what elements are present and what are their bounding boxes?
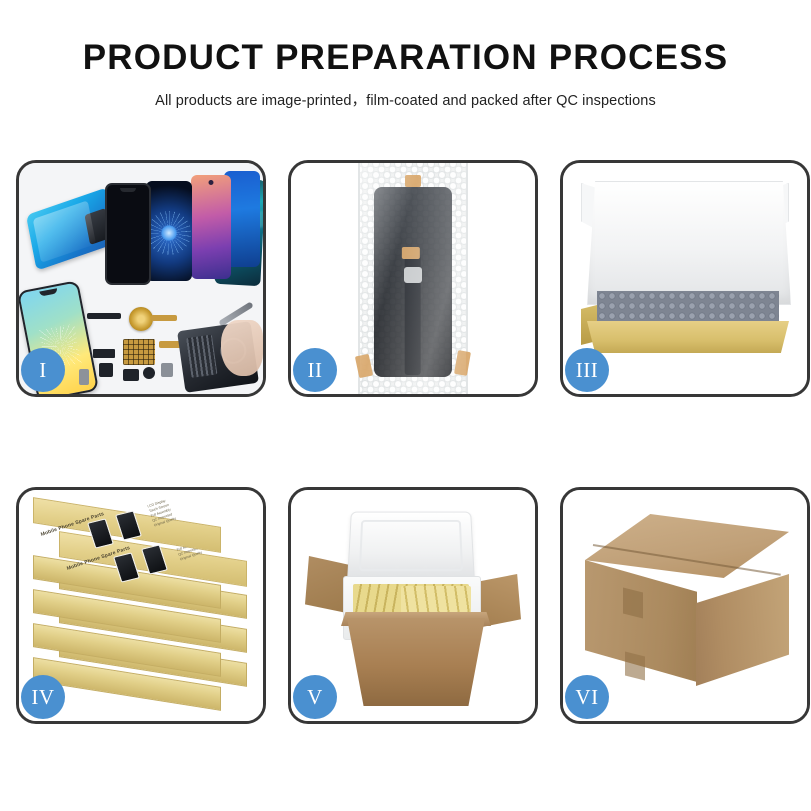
- carton-body-icon: [347, 618, 485, 706]
- phone-screen-black-icon: [105, 183, 151, 285]
- page-subtitle: All products are image-printed，film-coat…: [0, 89, 811, 110]
- step-badge-6-numeral: VI: [575, 685, 598, 710]
- carton-tab-top-icon: [623, 588, 643, 619]
- step-badge-3-numeral: III: [576, 358, 598, 383]
- step-card-3: III: [560, 160, 810, 397]
- tape-right-icon: [454, 350, 471, 376]
- part-square-2-icon: [123, 369, 139, 381]
- carton-side-icon: [696, 574, 789, 686]
- carton-tab-bottom-icon: [625, 652, 645, 681]
- page-title: PRODUCT PREPARATION PROCESS: [0, 40, 811, 75]
- process-steps-grid: I II: [16, 160, 795, 724]
- hand-icon: [221, 320, 263, 376]
- part-bar-2-icon: [93, 349, 115, 358]
- step-badge-5-numeral: V: [307, 685, 323, 710]
- step-badge-1-numeral: I: [39, 358, 47, 383]
- step-badge-2: II: [293, 348, 337, 392]
- box-lid-icon: [587, 181, 791, 305]
- step-badge-4-numeral: IV: [31, 685, 54, 710]
- phone-screen-purple-icon: [191, 175, 231, 279]
- tape-top-icon: [405, 175, 421, 187]
- flex-cable-3-icon: [161, 363, 173, 377]
- step-badge-4: IV: [21, 675, 65, 719]
- flex-cable-2-icon: [151, 315, 177, 321]
- step-card-6: VI: [560, 487, 810, 724]
- step-card-5: V: [288, 487, 538, 724]
- step-badge-6: VI: [565, 675, 609, 719]
- step-badge-1: I: [21, 348, 65, 392]
- part-battery-icon: [79, 369, 89, 385]
- step-badge-3: III: [565, 348, 609, 392]
- part-square-icon: [99, 363, 113, 377]
- carton-top-icon: [585, 514, 789, 578]
- product-preparation-page: PRODUCT PREPARATION PROCESS All products…: [0, 0, 811, 811]
- step-card-1: I: [16, 160, 266, 397]
- phone-screen-blue-icon: [146, 181, 192, 281]
- box-front-icon: [587, 321, 789, 353]
- tape-mid-icon: [402, 247, 420, 259]
- part-round-icon: [143, 367, 155, 379]
- connector-grid-icon: [123, 339, 155, 365]
- step-badge-2-numeral: II: [308, 358, 323, 383]
- step-card-2: II: [288, 160, 538, 397]
- lcd-connector-icon: [404, 267, 422, 283]
- step-card-4: Mobile Phone Spare Parts LCD Display Tou…: [16, 487, 266, 724]
- bubble-wrap-contents-icon: [597, 291, 779, 323]
- step-badge-5: V: [293, 675, 337, 719]
- page-header: PRODUCT PREPARATION PROCESS All products…: [0, 0, 811, 110]
- screen-burst-icon: [147, 211, 191, 255]
- part-bar-1-icon: [87, 313, 121, 319]
- copper-coil-icon: [129, 307, 153, 331]
- foam-lid-icon: [347, 512, 475, 583]
